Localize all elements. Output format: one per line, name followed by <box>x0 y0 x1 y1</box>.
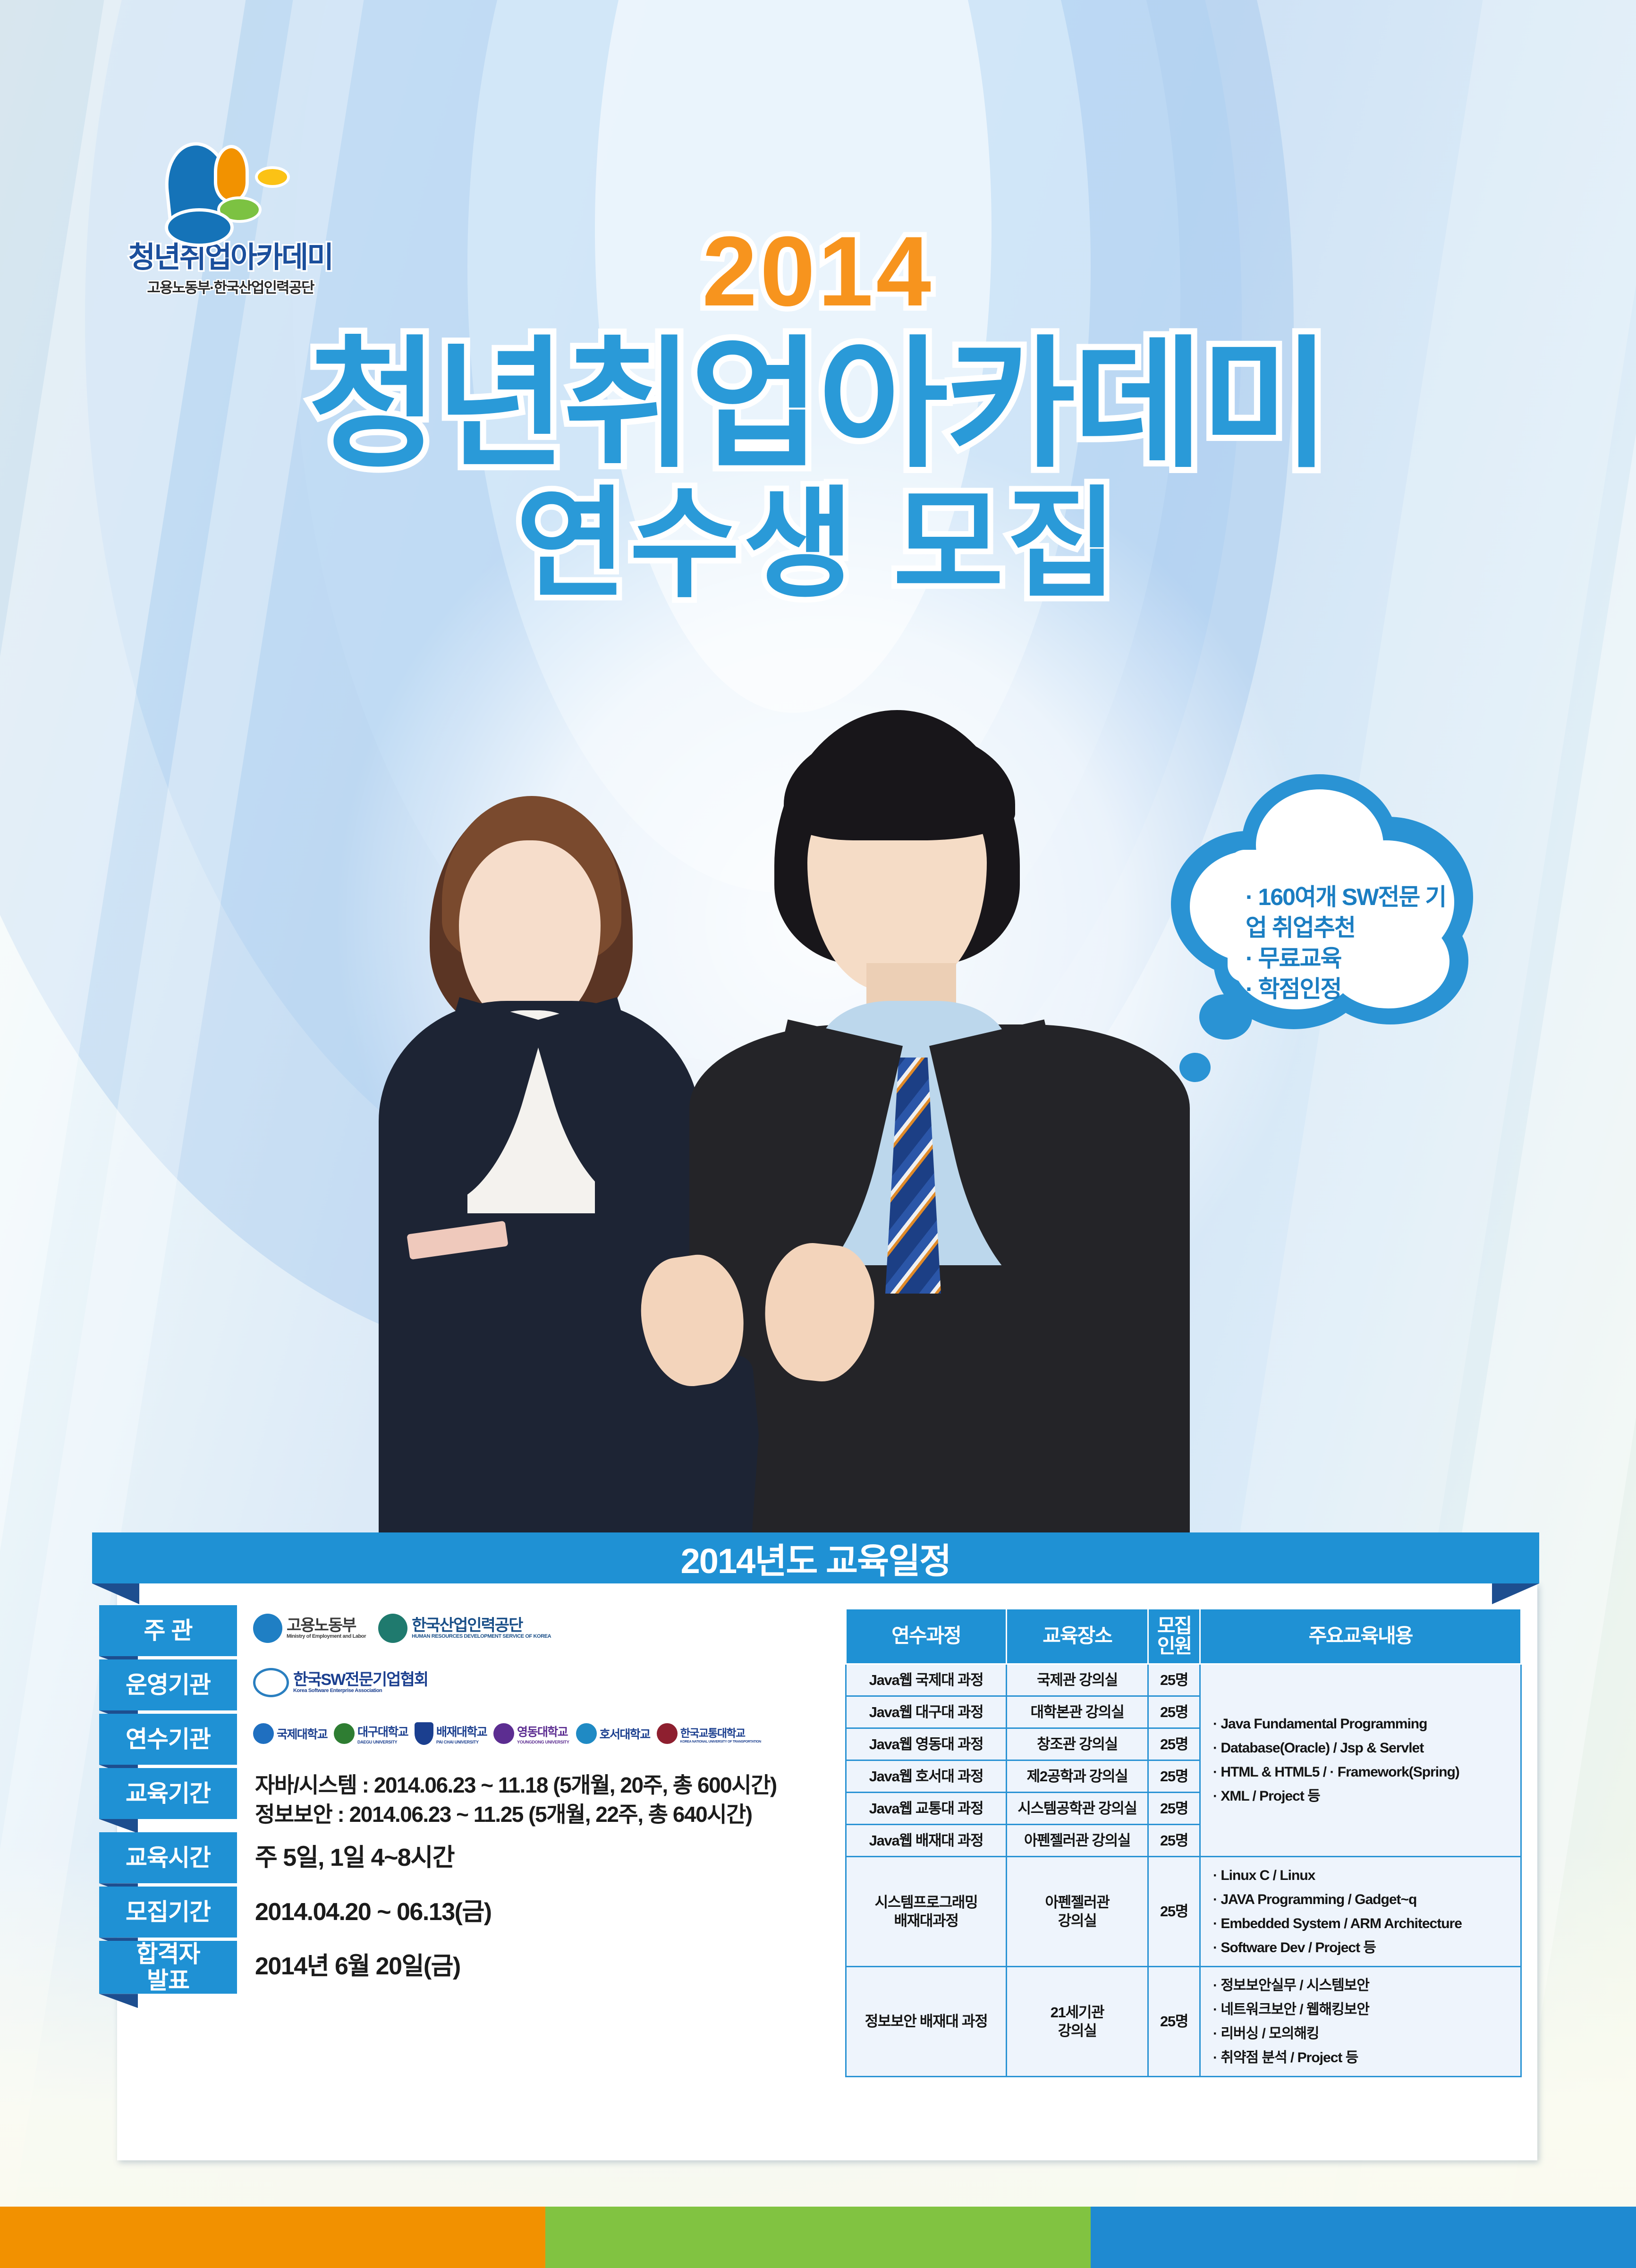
school-name-ko: 한국교통대학교 <box>680 1724 761 1740</box>
school-name-ko: 배재대학교 <box>436 1723 487 1740</box>
cell-contents-security: 정보보안실무 / 시스템보안 네트워크보안 / 웹해킹보안 리버싱 / 모의해킹… <box>1200 1966 1521 2076</box>
poster-headline: 2014 청년취업아카데미 연수생 모집 <box>0 222 1636 608</box>
footer-bar-blue <box>1091 2207 1636 2268</box>
school-logos: 국제대학교 대구대학교 DAEGU UNIVERSITY 배재대학교 PAI C… <box>237 1714 761 1745</box>
logo-orange-hook-icon <box>217 148 246 200</box>
info-label-operator: 운영기관 <box>99 1659 237 1710</box>
logo-yellow-dot-icon <box>258 169 287 185</box>
headline-line-1: 청년취업아카데미 <box>0 332 1636 477</box>
content-line: 정보보안실무 / 시스템보안 <box>1213 1973 1517 1997</box>
kosea-mark-icon <box>253 1668 289 1697</box>
cell-quota: 25명 <box>1148 1856 1200 1966</box>
content-line: 네트워크보안 / 웹해킹보안 <box>1213 1997 1517 2022</box>
cell-place: 국제관 강의실 <box>1007 1664 1148 1696</box>
cell-quota: 25명 <box>1148 1696 1200 1728</box>
footer-bar-orange <box>0 2207 545 2268</box>
school-logo: 배재대학교 PAI CHAI UNIVERSITY <box>415 1722 487 1745</box>
content-line: Linux C / Linux <box>1213 1863 1517 1887</box>
cell-course: 시스템프로그래밍 배재대과정 <box>846 1856 1007 1966</box>
cell-quota: 25명 <box>1148 1966 1200 2076</box>
info-label-training-period: 교육기간 <box>99 1768 237 1819</box>
content-line: Java Fundamental Programming <box>1213 1712 1517 1736</box>
students-photo <box>359 699 1190 1544</box>
school-name-en: KOREA NATIONAL UNIVERSITY OF TRANSPORTAT… <box>680 1740 761 1743</box>
moel-mark-icon <box>253 1614 282 1643</box>
hrdk-name-ko: 한국산업인력공단 <box>412 1617 551 1634</box>
school-name-ko: 영동대학교 <box>517 1723 569 1740</box>
cell-contents-system: Linux C / Linux JAVA Programming / Gadge… <box>1200 1856 1521 1966</box>
content-line: JAVA Programming / Gadget~q <box>1213 1887 1517 1912</box>
info-label-training-institutions: 연수기관 <box>99 1714 237 1765</box>
school-mark-icon <box>415 1722 433 1745</box>
cell-course: Java웹 교통대 과정 <box>846 1792 1007 1824</box>
school-mark-icon <box>657 1723 678 1744</box>
school-name-en: YOUNGDONG UNIVERSITY <box>517 1740 569 1744</box>
school-logo: 국제대학교 <box>253 1723 327 1744</box>
content-line: Embedded System / ARM Architecture <box>1213 1912 1517 1936</box>
footer-color-bars <box>0 2207 1636 2268</box>
content-line: 리버싱 / 모의해킹 <box>1213 2022 1517 2046</box>
content-line: Database(Oracle) / Jsp & Servlet <box>1213 1736 1517 1760</box>
cell-contents-java: Java Fundamental Programming Database(Or… <box>1200 1664 1521 1856</box>
school-name-ko: 대구대학교 <box>357 1723 408 1740</box>
table-row: Java웹 국제대 과정 국제관 강의실 25명 Java Fundamenta… <box>846 1664 1521 1696</box>
content-line: HTML & HTML5 / · Framework(Spring) <box>1213 1760 1517 1784</box>
training-period-line: 정보보안 : 2014.06.23 ~ 11.25 (5개월, 22주, 총 6… <box>255 1800 777 1829</box>
content-line: XML / Project 등 <box>1213 1784 1517 1808</box>
col-header-course: 연수과정 <box>846 1609 1007 1664</box>
footer-bar-green <box>545 2207 1091 2268</box>
moel-name-en: Ministry of Employment and Labor <box>287 1634 366 1639</box>
col-header-contents: 주요교육내용 <box>1200 1609 1521 1664</box>
training-period-line: 자바/시스템 : 2014.06.23 ~ 11.18 (5개월, 20주, 총… <box>255 1771 777 1800</box>
info-row-training-hours: 교육시간 주 5일, 1일 4~8시간 <box>99 1832 822 1883</box>
cell-course: Java웹 대구대 과정 <box>846 1696 1007 1728</box>
cell-place: 아펜젤러관 강의실 <box>1007 1824 1148 1856</box>
bubble-tail-large <box>1199 994 1252 1040</box>
cell-place: 제2공학과 강의실 <box>1007 1760 1148 1792</box>
content-line: Software Dev / Project 등 <box>1213 1936 1517 1960</box>
table-row-security: 정보보안 배재대 과정 21세기관 강의실 25명 정보보안실무 / 시스템보안… <box>846 1966 1521 2076</box>
cell-place: 시스템공학관 강의실 <box>1007 1792 1148 1824</box>
cell-quota: 25명 <box>1148 1760 1200 1792</box>
logo-kosea: 한국SW전문기업협회 Korea Software Enterprise Ass… <box>253 1668 428 1697</box>
school-name-ko: 국제대학교 <box>277 1725 327 1742</box>
cell-course: 정보보안 배재대 과정 <box>846 1966 1007 2076</box>
info-row-host: 주 관 고용노동부 Ministry of Employment and Lab… <box>99 1605 822 1656</box>
hrdk-mark-icon <box>378 1614 407 1643</box>
cell-place: 아펜젤러관 강의실 <box>1007 1856 1148 1966</box>
info-value-training-period: 자바/시스템 : 2014.06.23 ~ 11.18 (5개월, 20주, 총… <box>237 1768 777 1829</box>
kosea-name-ko: 한국SW전문기업협회 <box>293 1672 428 1688</box>
kosea-name-en: Korea Software Enterprise Association <box>293 1688 428 1693</box>
school-name-ko: 호서대학교 <box>600 1725 650 1742</box>
hrdk-name-en: HUMAN RESOURCES DEVELOPMENT SERVICE OF K… <box>412 1634 551 1639</box>
col-header-quota: 모집 인원 <box>1148 1609 1200 1664</box>
program-info-list: 주 관 고용노동부 Ministry of Employment and Lab… <box>99 1605 822 1997</box>
info-value-result-announcement: 2014년 6월 20일(금) <box>237 1941 460 1983</box>
cell-quota: 25명 <box>1148 1728 1200 1760</box>
woman-face <box>459 840 601 1025</box>
schedule-banner: 2014년도 교육일정 <box>92 1532 1539 1583</box>
info-label-result-announcement: 합격자 발표 <box>99 1941 237 1994</box>
table-header-row: 연수과정 교육장소 모집 인원 주요교육내용 <box>846 1609 1521 1664</box>
cell-quota: 25명 <box>1148 1664 1200 1696</box>
operator-logos: 한국SW전문기업협회 Korea Software Enterprise Ass… <box>237 1659 428 1697</box>
school-logo: 호서대학교 <box>576 1723 650 1744</box>
benefits-thought-bubble: 160여개 SW전문 기업 취업추천 무료교육 학점인정 <box>1171 774 1483 1039</box>
col-header-place: 교육장소 <box>1007 1609 1148 1664</box>
bubble-benefit-item: 무료교육 <box>1246 943 1449 974</box>
logo-moel: 고용노동부 Ministry of Employment and Labor <box>253 1614 366 1643</box>
info-row-operator: 운영기관 한국SW전문기업협회 Korea Software Enterpris… <box>99 1659 822 1710</box>
cell-place: 창조관 강의실 <box>1007 1728 1148 1760</box>
cell-quota: 25명 <box>1148 1824 1200 1856</box>
school-mark-icon <box>576 1723 597 1744</box>
info-row-training-institutions: 연수기관 국제대학교 대구대학교 DAEGU UNIVERSITY 배재대 <box>99 1714 822 1765</box>
content-line: 취약점 분석 / Project 등 <box>1213 2046 1517 2070</box>
headline-line-2: 연수생 모집 <box>0 482 1636 608</box>
moel-name-ko: 고용노동부 <box>287 1617 366 1634</box>
info-value-training-hours: 주 5일, 1일 4~8시간 <box>237 1832 454 1875</box>
info-label-training-hours: 교육시간 <box>99 1832 237 1883</box>
info-row-result-announcement: 합격자 발표 2014년 6월 20일(금) <box>99 1941 822 1994</box>
headline-year: 2014 <box>0 222 1636 321</box>
label-fold-icon <box>99 1819 138 1833</box>
school-mark-icon <box>334 1723 355 1744</box>
school-logo: 한국교통대학교 KOREA NATIONAL UNIVERSITY OF TRA… <box>657 1723 761 1744</box>
school-mark-icon <box>493 1723 514 1744</box>
school-logo: 영동대학교 YOUNGDONG UNIVERSITY <box>493 1723 569 1744</box>
cell-place: 대학본관 강의실 <box>1007 1696 1148 1728</box>
info-value-application-period: 2014.04.20 ~ 06.13(금) <box>237 1887 492 1929</box>
logo-green-dot-icon <box>220 199 259 220</box>
info-row-training-period: 교육기간 자바/시스템 : 2014.06.23 ~ 11.18 (5개월, 2… <box>99 1768 822 1829</box>
logo-hrdk: 한국산업인력공단 HUMAN RESOURCES DEVELOPMENT SER… <box>378 1614 551 1643</box>
school-mark-icon <box>253 1723 274 1744</box>
bubble-benefit-item: 학점인정 <box>1246 974 1449 1005</box>
bubble-benefit-list: 160여개 SW전문 기업 취업추천 무료교육 학점인정 <box>1227 882 1449 1005</box>
bubble-benefit-item: 160여개 SW전문 기업 취업추천 <box>1246 882 1449 943</box>
cell-place: 21세기관 강의실 <box>1007 1966 1148 2076</box>
bubble-tail-small <box>1179 1053 1211 1082</box>
cell-course: Java웹 호서대 과정 <box>846 1760 1007 1792</box>
info-label-application-period: 모집기간 <box>99 1887 237 1938</box>
cell-quota: 25명 <box>1148 1792 1200 1824</box>
info-label-host: 주 관 <box>99 1605 237 1656</box>
school-logo: 대구대학교 DAEGU UNIVERSITY <box>334 1723 408 1744</box>
cell-course: Java웹 배재대 과정 <box>846 1824 1007 1856</box>
table-row-system-programming: 시스템프로그래밍 배재대과정 아펜젤러관 강의실 25명 Linux C / L… <box>846 1856 1521 1966</box>
schedule-banner-title: 2014년도 교육일정 <box>681 1533 951 1583</box>
host-logos: 고용노동부 Ministry of Employment and Labor 한… <box>237 1605 551 1643</box>
school-name-en: DAEGU UNIVERSITY <box>357 1740 408 1744</box>
cell-course: Java웹 영동대 과정 <box>846 1728 1007 1760</box>
info-row-application-period: 모집기간 2014.04.20 ~ 06.13(금) <box>99 1887 822 1938</box>
cell-course: Java웹 국제대 과정 <box>846 1664 1007 1696</box>
school-name-en: PAI CHAI UNIVERSITY <box>436 1740 487 1744</box>
man-fringe <box>784 727 1015 840</box>
course-schedule-table: 연수과정 교육장소 모집 인원 주요교육내용 Java웹 국제대 과정 국제관 … <box>845 1608 1522 2077</box>
